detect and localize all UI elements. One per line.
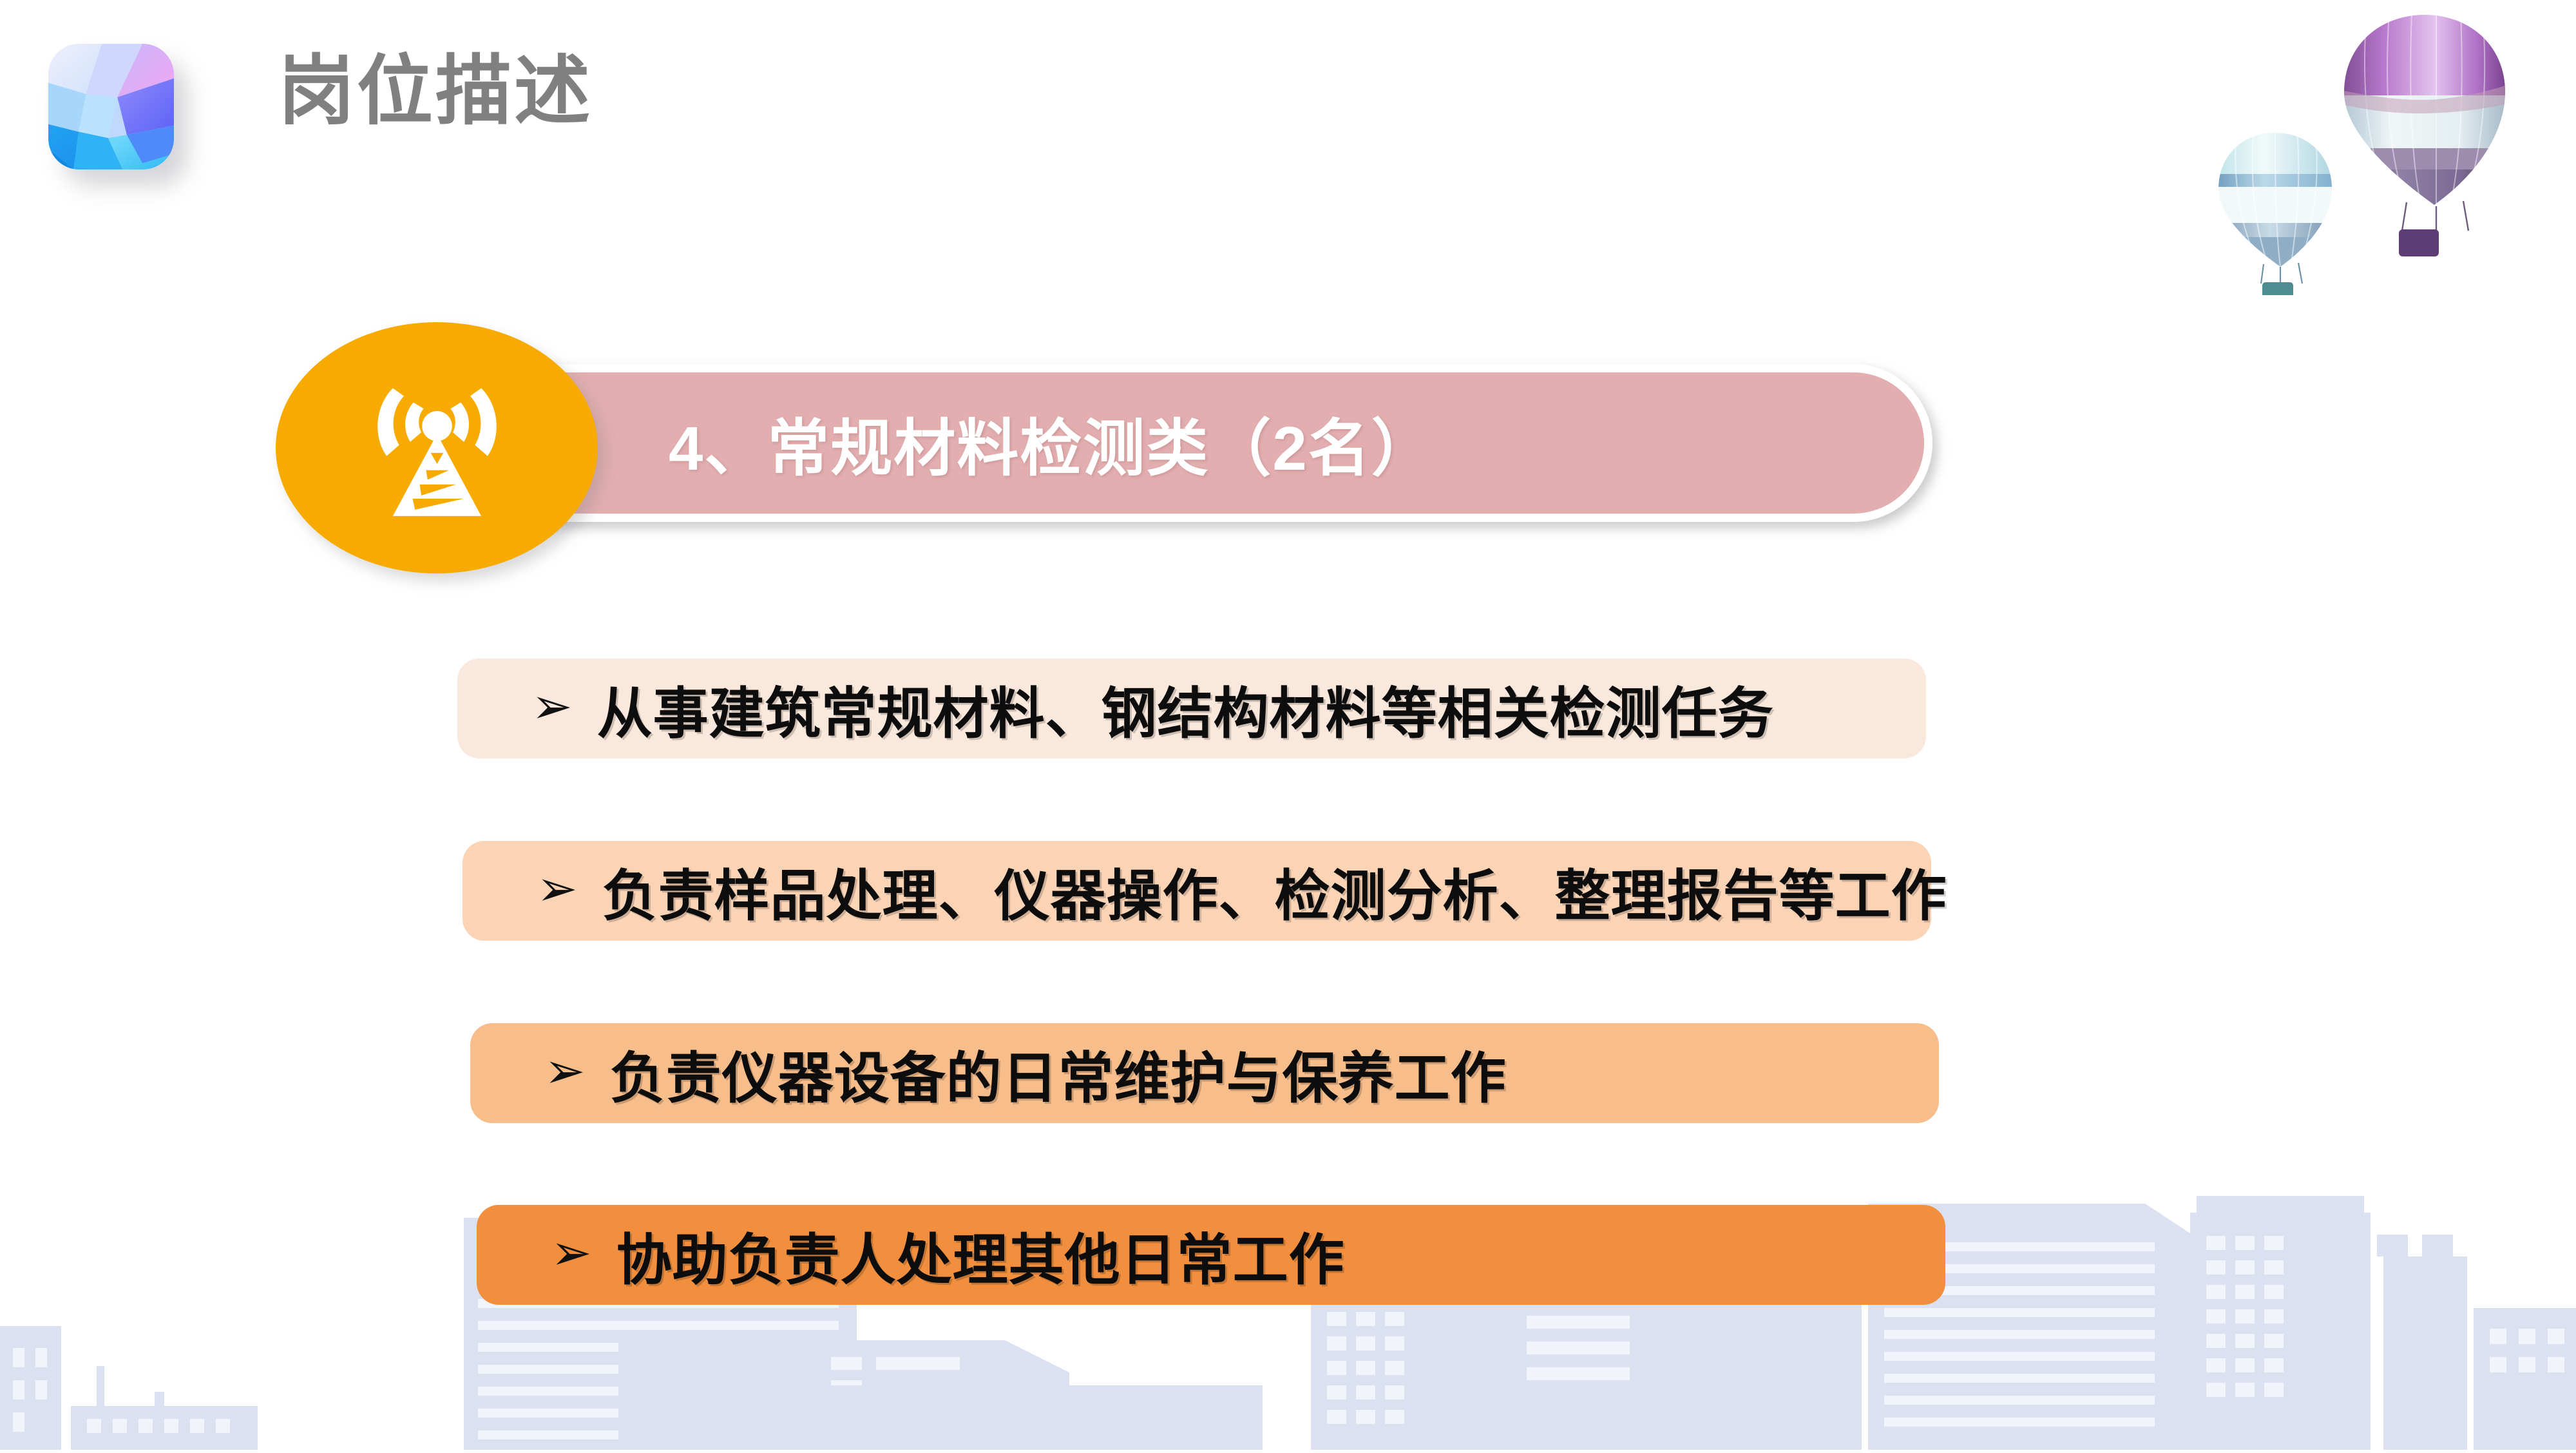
list-item[interactable]: ➢ 负责样品处理、仪器操作、检测分析、整理报告等工作 [463, 841, 1931, 941]
arrow-bullet-icon: ➢ [551, 1229, 592, 1278]
slide-header: 岗位描述 [0, 0, 2576, 206]
list-item-label: 负责样品处理、仪器操作、检测分析、整理报告等工作 [602, 851, 1947, 931]
arrow-bullet-icon: ➢ [544, 1047, 586, 1096]
banner-pill: 4、常规材料检测类（2名） [422, 364, 1932, 522]
list-item-label: 从事建筑常规材料、钢结构材料等相关检测任务 [597, 668, 1774, 749]
arrow-bullet-icon: ➢ [537, 865, 578, 914]
page-title: 岗位描述 [278, 46, 593, 138]
slide-canvas: 岗位描述 [0, 0, 2576, 1450]
polygon-gem-logo-icon [48, 44, 174, 169]
list-item[interactable]: ➢ 负责仪器设备的日常维护与保养工作 [470, 1023, 1939, 1123]
broadcast-tower-icon [276, 322, 598, 573]
list-item-label: 负责仪器设备的日常维护与保养工作 [610, 1033, 1507, 1113]
list-item[interactable]: ➢ 协助负责人处理其他日常工作 [477, 1205, 1945, 1305]
list-item-label: 协助负责人处理其他日常工作 [616, 1215, 1345, 1295]
banner-title: 4、常规材料检测类（2名） [669, 398, 1435, 488]
arrow-bullet-icon: ➢ [531, 682, 573, 731]
section-banner: 4、常规材料检测类（2名） [0, 322, 2576, 580]
bullet-list: ➢ 从事建筑常规材料、钢结构材料等相关检测任务 ➢ 负责样品处理、仪器操作、检测… [0, 651, 2576, 1302]
list-item[interactable]: ➢ 从事建筑常规材料、钢结构材料等相关检测任务 [457, 659, 1926, 758]
